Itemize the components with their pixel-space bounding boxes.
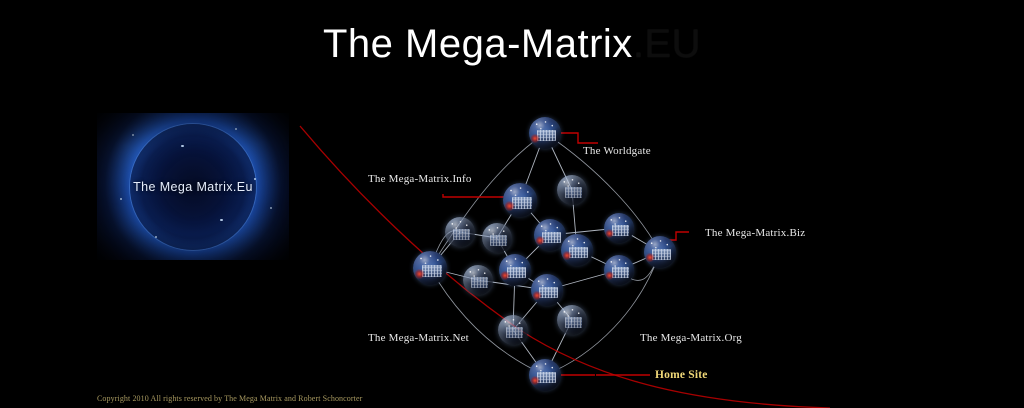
node-city-texture — [512, 197, 532, 209]
node-red-flare — [530, 376, 540, 386]
network-label-home-site[interactable]: Home Site — [655, 369, 708, 381]
node-city-texture — [565, 187, 582, 198]
node-city-texture — [569, 247, 588, 259]
node-city-texture — [565, 317, 582, 328]
network-node-center-low[interactable] — [531, 274, 563, 306]
node-red-flare — [562, 251, 572, 261]
node-city-texture — [507, 267, 526, 279]
network-node-right-upper[interactable] — [604, 213, 634, 243]
network-node-left-upper[interactable] — [445, 217, 475, 247]
node-city-texture — [490, 235, 507, 246]
node-city-texture — [506, 327, 523, 338]
node-city-texture — [537, 130, 556, 142]
node-city-texture — [471, 277, 488, 288]
node-city-texture — [612, 225, 629, 236]
node-city-texture — [453, 229, 470, 240]
network-node-center-right[interactable] — [561, 234, 593, 266]
network-node-lower-right[interactable] — [557, 305, 587, 335]
network-node-center[interactable] — [499, 254, 531, 286]
network-node-left-lower[interactable] — [463, 265, 493, 295]
network-node-lower-left[interactable] — [498, 315, 528, 345]
network-node-right-lower[interactable] — [604, 255, 634, 285]
network-node-worldgate[interactable] — [529, 117, 561, 149]
node-red-flare — [535, 236, 545, 246]
node-city-texture — [537, 372, 556, 384]
node-city-texture — [612, 267, 629, 278]
network-node-far-right[interactable] — [644, 236, 676, 268]
node-city-texture — [652, 249, 671, 261]
network-label-org[interactable]: The Mega-Matrix.Org — [640, 332, 742, 344]
network-node-far-left[interactable] — [413, 251, 447, 285]
node-red-flare — [532, 291, 542, 301]
network-label-worldgate[interactable]: The Worldgate — [583, 145, 651, 157]
network-node-upper-right[interactable] — [557, 175, 587, 205]
node-city-texture — [539, 287, 558, 299]
node-city-texture — [542, 232, 561, 244]
network-label-net[interactable]: The Mega-Matrix.Net — [368, 332, 469, 344]
network-node-mid-left-a[interactable] — [482, 223, 512, 253]
node-red-flare — [605, 271, 614, 280]
node-red-flare — [530, 134, 540, 144]
copyright-notice: Copyright 2010 All rights reserved by Th… — [97, 394, 362, 403]
network-label-info[interactable]: The Mega-Matrix.Info — [368, 173, 472, 185]
network-diagram: The Worldgate The Mega-Matrix.Info The M… — [0, 0, 1024, 408]
network-label-biz[interactable]: The Mega-Matrix.Biz — [705, 227, 805, 239]
network-node-home-site[interactable] — [529, 359, 561, 391]
node-red-flare — [500, 271, 510, 281]
node-city-texture — [422, 265, 442, 277]
network-node-info[interactable] — [503, 183, 537, 217]
node-red-flare — [605, 229, 614, 238]
node-red-flare — [645, 253, 655, 263]
node-red-flare — [414, 269, 424, 279]
node-red-flare — [504, 201, 514, 211]
